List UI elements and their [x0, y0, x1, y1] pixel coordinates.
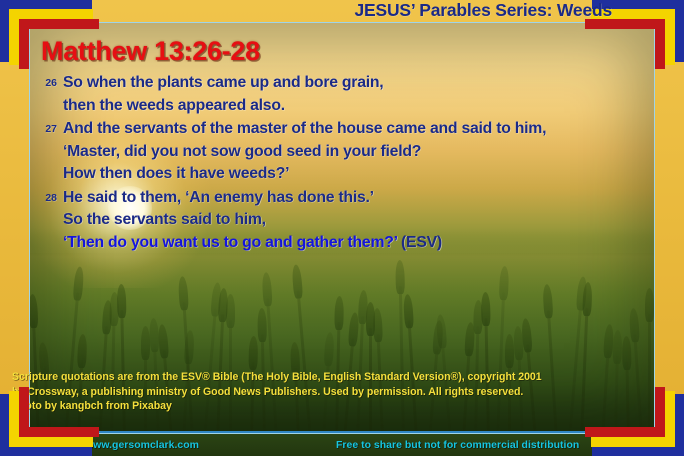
series-title: JESUS’ Parables Series: Weeds — [355, 0, 613, 21]
footer-bar: www.gersomclark.com Free to share but no… — [29, 434, 655, 456]
verse-list: 26So when the plants came up and bore gr… — [35, 72, 649, 255]
verse-line-text: How then does it have weeds?’ — [63, 165, 289, 182]
verse-line: ‘Then do you want us to go and gather th… — [63, 232, 649, 255]
verse-lines: And the servants of the master of the ho… — [63, 118, 649, 186]
verse-number: 27 — [35, 118, 63, 140]
slide-canvas: Matthew 13:26-28 26So when the plants ca… — [0, 0, 684, 456]
verse-block: 28He said to them, ‘An enemy has done th… — [35, 187, 649, 255]
verse-line-text: then the weeds appeared also. — [63, 97, 285, 114]
verse-lines: He said to them, ‘An enemy has done this… — [63, 187, 649, 255]
verse-number: 26 — [35, 72, 63, 94]
verse-line: He said to them, ‘An enemy has done this… — [63, 187, 649, 210]
verse-line-text: So when the plants came up and bore grai… — [63, 74, 383, 91]
verse-lines: So when the plants came up and bore grai… — [63, 72, 649, 117]
distribution-notice: Free to share but not for commercial dis… — [336, 439, 579, 451]
verse-block: 26So when the plants came up and bore gr… — [35, 72, 649, 117]
verse-line: then the weeds appeared also. — [63, 95, 649, 118]
credits-line-3: Photo by kangbch from Pixabay — [12, 399, 664, 414]
credits-block: Scripture quotations are from the ESV® B… — [12, 370, 664, 414]
verse-line-text: He said to them, ‘An enemy has done this… — [63, 189, 374, 206]
credits-line-2: by Crossway, a publishing ministry of Go… — [12, 385, 664, 400]
verse-line-text: And the servants of the master of the ho… — [63, 120, 546, 137]
verse-line: How then does it have weeds?’ — [63, 163, 649, 186]
scripture-reference: Matthew 13:26-28 — [41, 36, 260, 67]
verse-line-text: ‘Then do you want us to go and gather th… — [63, 234, 397, 251]
verse-line-text: ‘Master, did you not sow good seed in yo… — [63, 143, 421, 160]
verse-line: So the servants said to him, — [63, 209, 649, 232]
verse-line: ‘Master, did you not sow good seed in yo… — [63, 141, 649, 164]
verse-block: 27And the servants of the master of the … — [35, 118, 649, 186]
credits-line-1: Scripture quotations are from the ESV® B… — [12, 370, 664, 385]
verse-number: 28 — [35, 187, 63, 209]
website-link[interactable]: www.gersomclark.com — [85, 439, 199, 451]
translation-label: (ESV) — [397, 234, 442, 251]
verse-line: And the servants of the master of the ho… — [63, 118, 649, 141]
verse-line: So when the plants came up and bore grai… — [63, 72, 649, 95]
footer-divider-rule — [30, 431, 654, 433]
verse-line-text: So the servants said to him, — [63, 211, 266, 228]
